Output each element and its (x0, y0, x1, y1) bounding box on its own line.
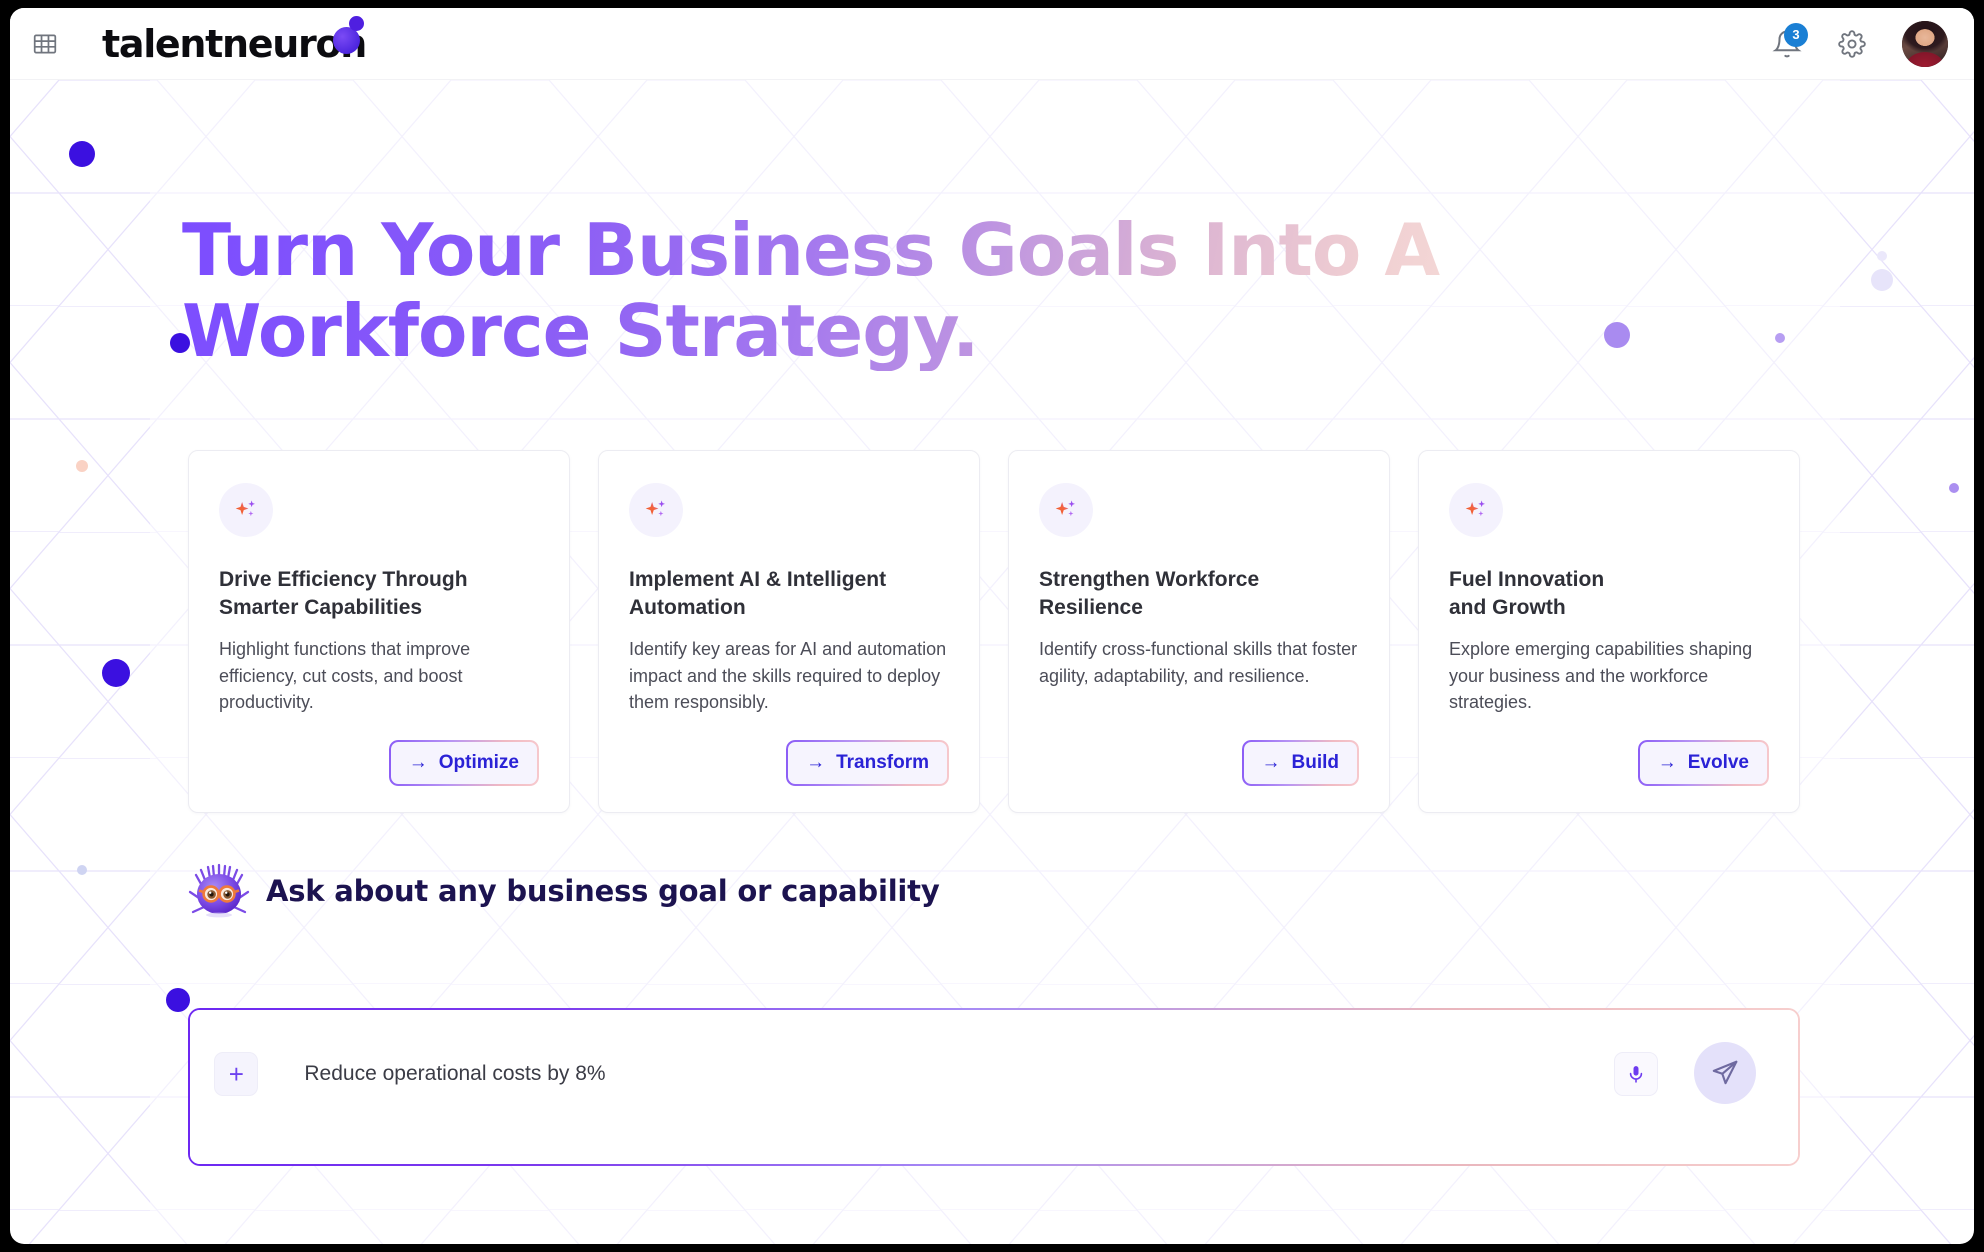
logo-wordmark: talentneuron (102, 22, 366, 66)
microphone-button[interactable] (1614, 1052, 1658, 1096)
transform-button[interactable]: → Transform (786, 740, 949, 786)
card-description: Identify cross-functional skills that fo… (1039, 636, 1359, 689)
card-description: Highlight functions that improve efficie… (219, 636, 539, 715)
settings-button[interactable] (1838, 30, 1866, 58)
logo-orb-icon (333, 27, 360, 54)
avatar-photo (1902, 21, 1948, 67)
avatar[interactable] (1902, 21, 1948, 67)
card-title: Implement AI & Intelligent Automation (629, 566, 949, 621)
plus-icon[interactable]: + (214, 1052, 258, 1096)
cta-label: Evolve (1688, 752, 1749, 774)
arrow-right-icon: → (1262, 753, 1281, 772)
cta-label: Optimize (439, 752, 519, 774)
top-bar-actions: 3 (1772, 21, 1948, 67)
sparkle-glyph (1053, 497, 1079, 523)
goal-card-list: Drive Efficiency Through Smarter Capabil… (188, 450, 1800, 813)
card-cta-row: → Transform (629, 716, 949, 786)
goal-card[interactable]: Drive Efficiency Through Smarter Capabil… (188, 450, 570, 813)
goal-card[interactable]: Implement AI & Intelligent Automation Id… (598, 450, 980, 813)
card-description: Explore emerging capabilities shaping yo… (1449, 636, 1769, 715)
notification-badge: 3 (1784, 23, 1808, 47)
brand-logo[interactable]: talentneuron (102, 22, 366, 66)
cta-label: Transform (836, 752, 929, 774)
goal-card[interactable]: Fuel Innovation and Growth Explore emerg… (1418, 450, 1800, 813)
cta-label: Build (1292, 752, 1340, 774)
top-navigation-bar: talentneuron 3 (10, 8, 1974, 80)
sparkle-glyph (643, 497, 669, 523)
card-title: Fuel Innovation and Growth (1449, 566, 1769, 621)
card-title: Drive Efficiency Through Smarter Capabil… (219, 566, 539, 621)
card-cta-row: → Build (1039, 716, 1359, 786)
arrow-right-icon: → (1658, 753, 1677, 772)
plus-label: + (229, 1061, 244, 1087)
arrow-right-icon: → (409, 753, 428, 772)
card-title: Strengthen Workforce Resilience (1039, 566, 1359, 621)
sparkle-icon (629, 483, 683, 537)
send-paper-plane-icon (1709, 1057, 1741, 1089)
ask-prompt-label: Ask about any business goal or capabilit… (266, 874, 940, 908)
chat-input-inner: + (190, 1010, 1797, 1163)
sparkle-icon (1449, 483, 1503, 537)
evolve-button[interactable]: → Evolve (1638, 740, 1769, 786)
goal-card[interactable]: Strengthen Workforce Resilience Identify… (1008, 450, 1390, 813)
card-cta-row: → Optimize (219, 716, 539, 786)
sparkle-glyph (1463, 497, 1489, 523)
send-button[interactable] (1694, 1042, 1756, 1104)
sparkle-icon (1039, 483, 1093, 537)
app-window: talentneuron 3 (10, 8, 1974, 1244)
mascot-icon (188, 860, 250, 922)
sparkle-glyph (233, 497, 259, 523)
chat-input[interactable] (304, 1062, 1604, 1086)
build-button[interactable]: → Build (1242, 740, 1360, 786)
notifications-button[interactable]: 3 (1772, 28, 1802, 60)
gear-icon (1838, 30, 1866, 58)
ask-prompt-row: Ask about any business goal or capabilit… (188, 860, 940, 922)
sparkle-icon (219, 483, 273, 537)
optimize-button[interactable]: → Optimize (389, 740, 539, 786)
arrow-right-icon: → (806, 753, 825, 772)
card-description: Identify key areas for AI and automation… (629, 636, 949, 715)
main-content: Turn Your Business Goals Into A Workforc… (10, 80, 1974, 1244)
page-title: Turn Your Business Goals Into A Workforc… (182, 210, 1482, 371)
chat-input-container[interactable]: + (188, 1008, 1800, 1166)
mascot-avatar (188, 860, 250, 922)
grid-menu-icon[interactable] (28, 27, 62, 61)
microphone-icon (1626, 1064, 1646, 1084)
card-cta-row: → Evolve (1449, 716, 1769, 786)
